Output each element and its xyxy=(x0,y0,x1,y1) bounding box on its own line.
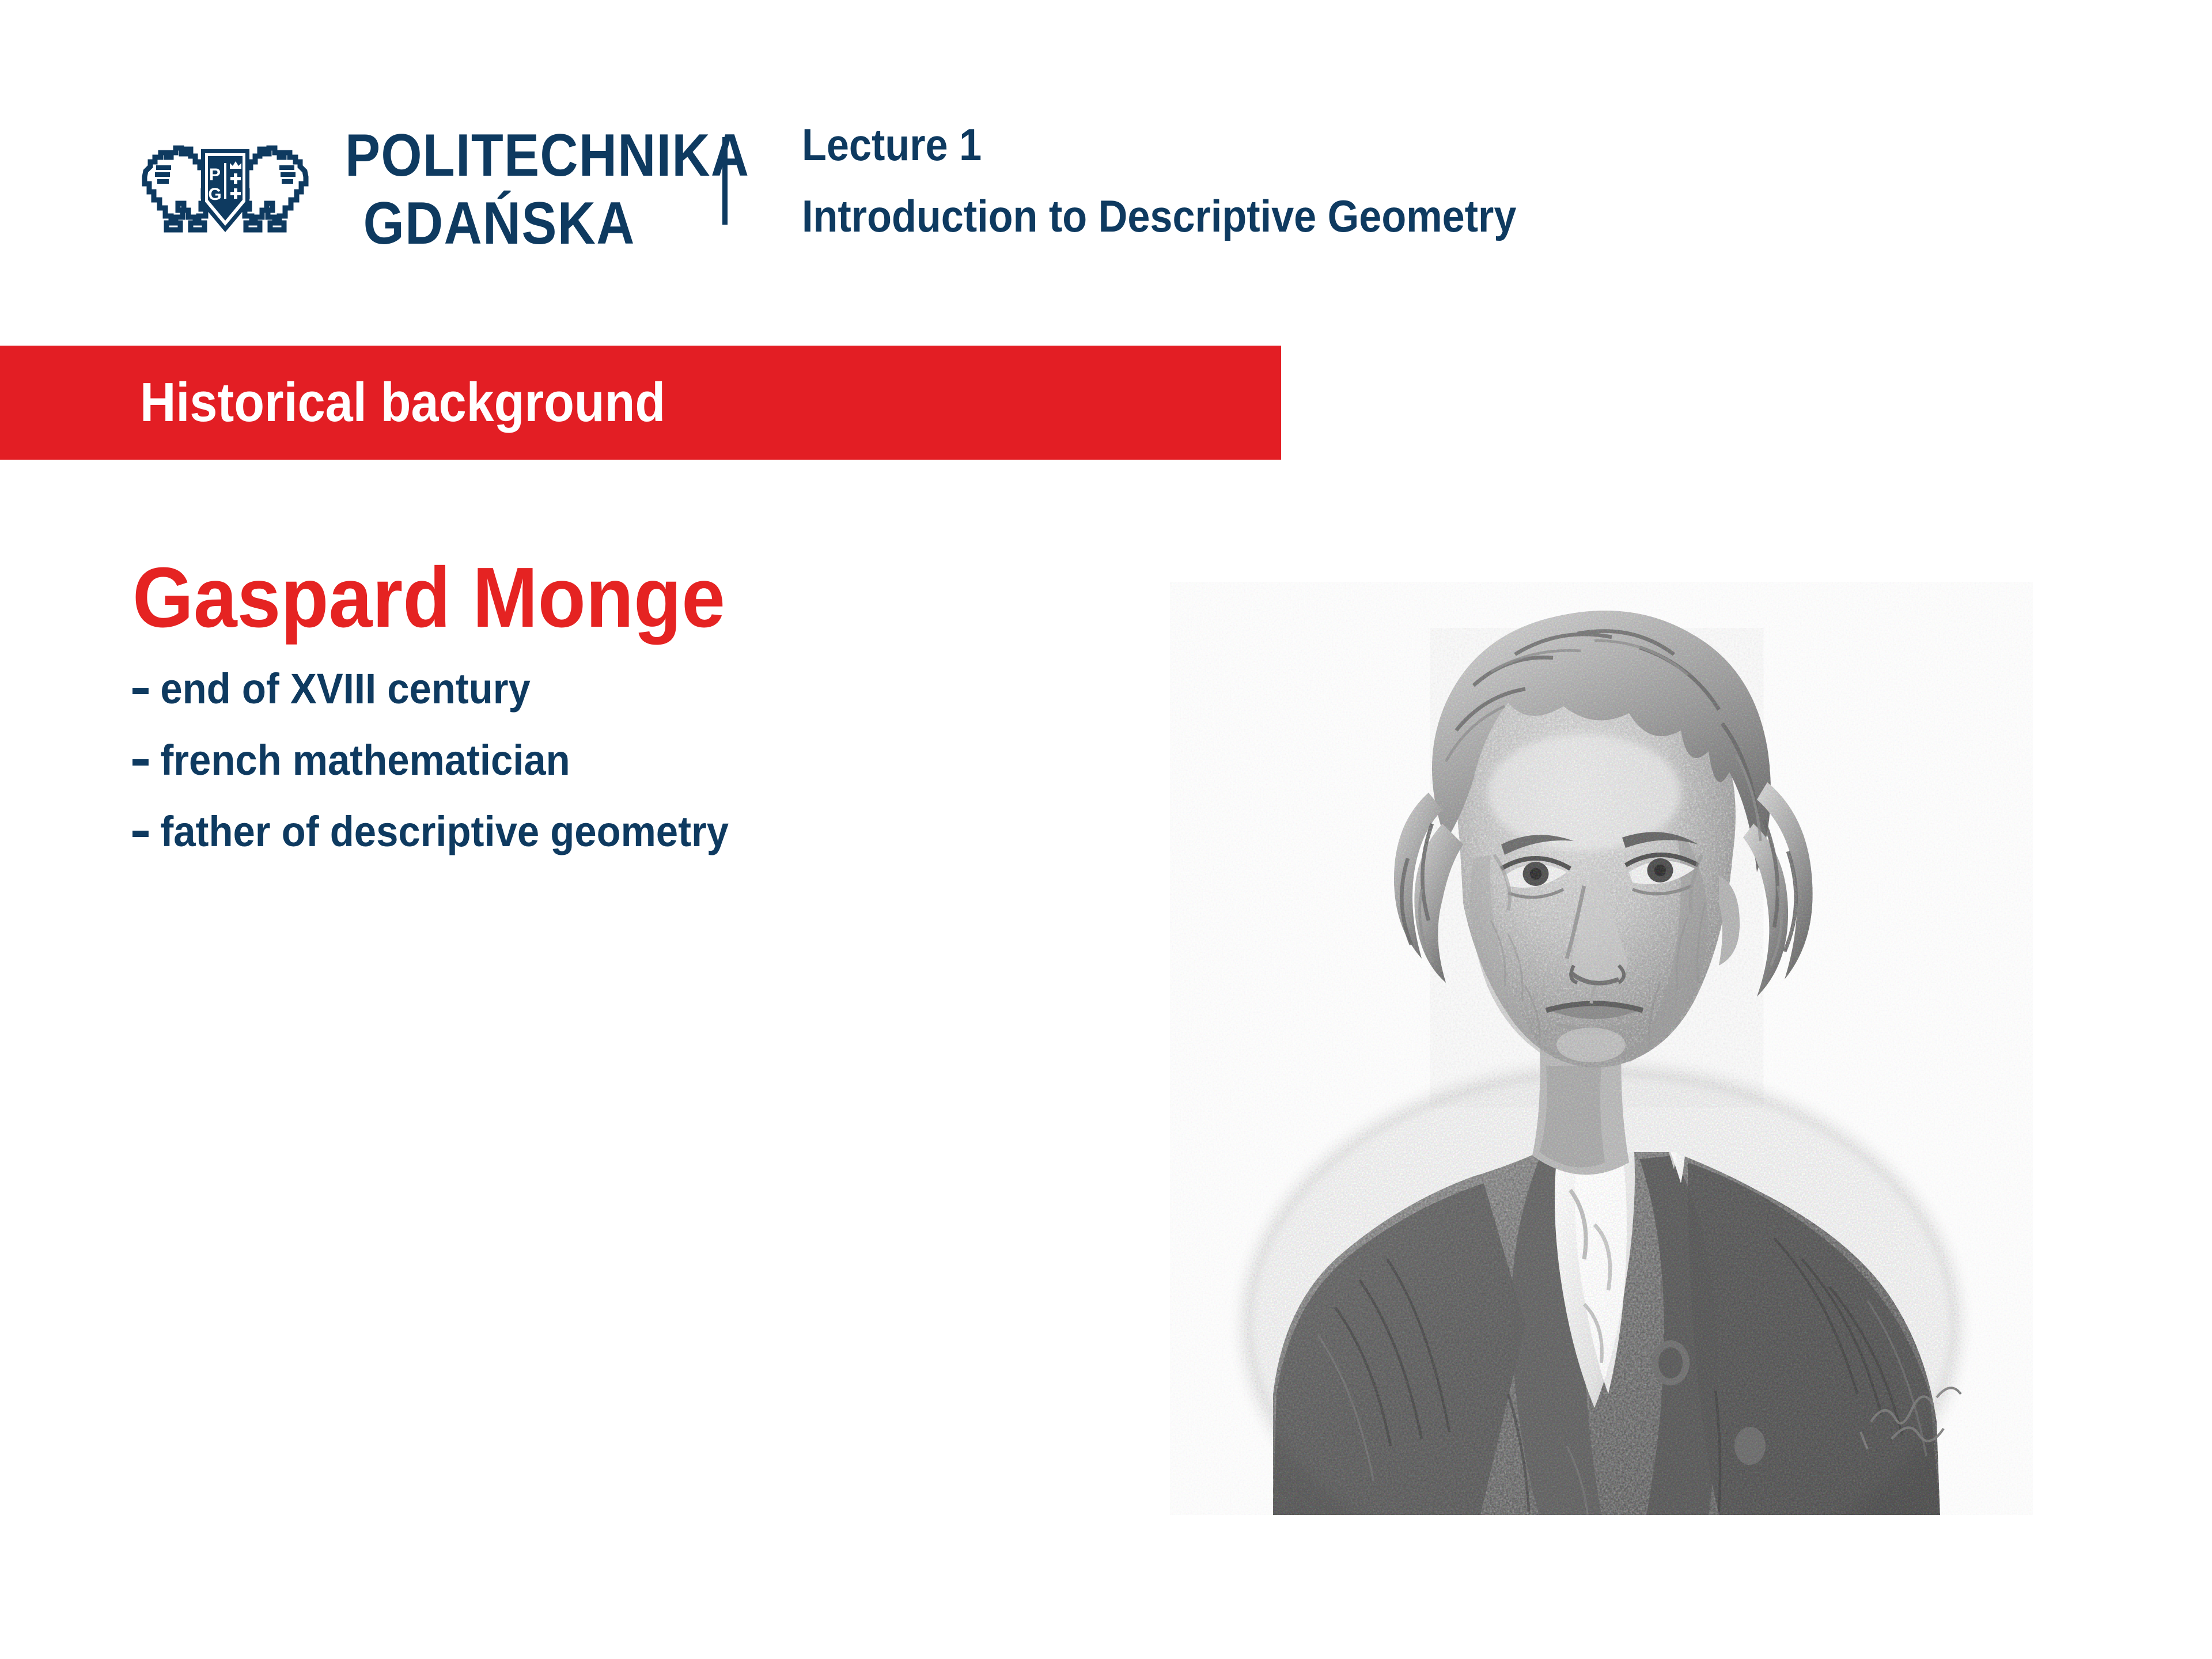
portrait-gaspard-monge: Grayscale lithograph bust portrait of Ga… xyxy=(1169,582,2033,1515)
fact-list: end of XVIII century french mathematicia… xyxy=(132,668,1112,853)
lecture-number: Lecture 1 xyxy=(802,122,1516,167)
dash-bullet-icon xyxy=(132,759,149,766)
svg-text:P: P xyxy=(209,165,221,184)
header-vertical-divider xyxy=(722,137,728,225)
list-item: french mathematician xyxy=(132,739,1043,782)
slide: P G POLITECHNIKA GDAŃSKA Lecture 1 I xyxy=(0,0,2212,1659)
svg-text:G: G xyxy=(208,185,221,204)
content-left-column: Gaspard Monge end of XVIII century frenc… xyxy=(132,553,1112,882)
fact-text: end of XVIII century xyxy=(160,668,530,710)
pg-crest-logo: P G xyxy=(135,135,315,244)
lecture-title: Introduction to Descriptive Geometry xyxy=(802,194,1516,238)
lecture-heading-block: Lecture 1 Introduction to Descriptive Ge… xyxy=(802,122,1596,238)
fact-text: father of descriptive geometry xyxy=(160,810,729,853)
list-item: father of descriptive geometry xyxy=(132,810,1043,853)
university-brand-lockup: P G POLITECHNIKA GDAŃSKA xyxy=(135,126,805,253)
fact-text: french mathematician xyxy=(160,739,570,782)
dash-bullet-icon xyxy=(132,688,149,694)
section-banner-label: Historical background xyxy=(140,375,665,430)
portrait-illustration: Grayscale lithograph bust portrait of Ga… xyxy=(1169,582,2033,1515)
list-item: end of XVIII century xyxy=(132,668,1043,710)
university-wordmark: POLITECHNIKA GDAŃSKA xyxy=(345,126,805,253)
section-banner: Historical background xyxy=(0,346,1281,460)
person-name-heading: Gaspard Monge xyxy=(132,553,1033,642)
brand-line-politechnika: POLITECHNIKA xyxy=(345,126,749,185)
slide-header: P G POLITECHNIKA GDAŃSKA Lecture 1 I xyxy=(0,0,2212,346)
brand-line-gdanska: GDAŃSKA xyxy=(345,194,749,253)
dash-bullet-icon xyxy=(132,831,149,837)
